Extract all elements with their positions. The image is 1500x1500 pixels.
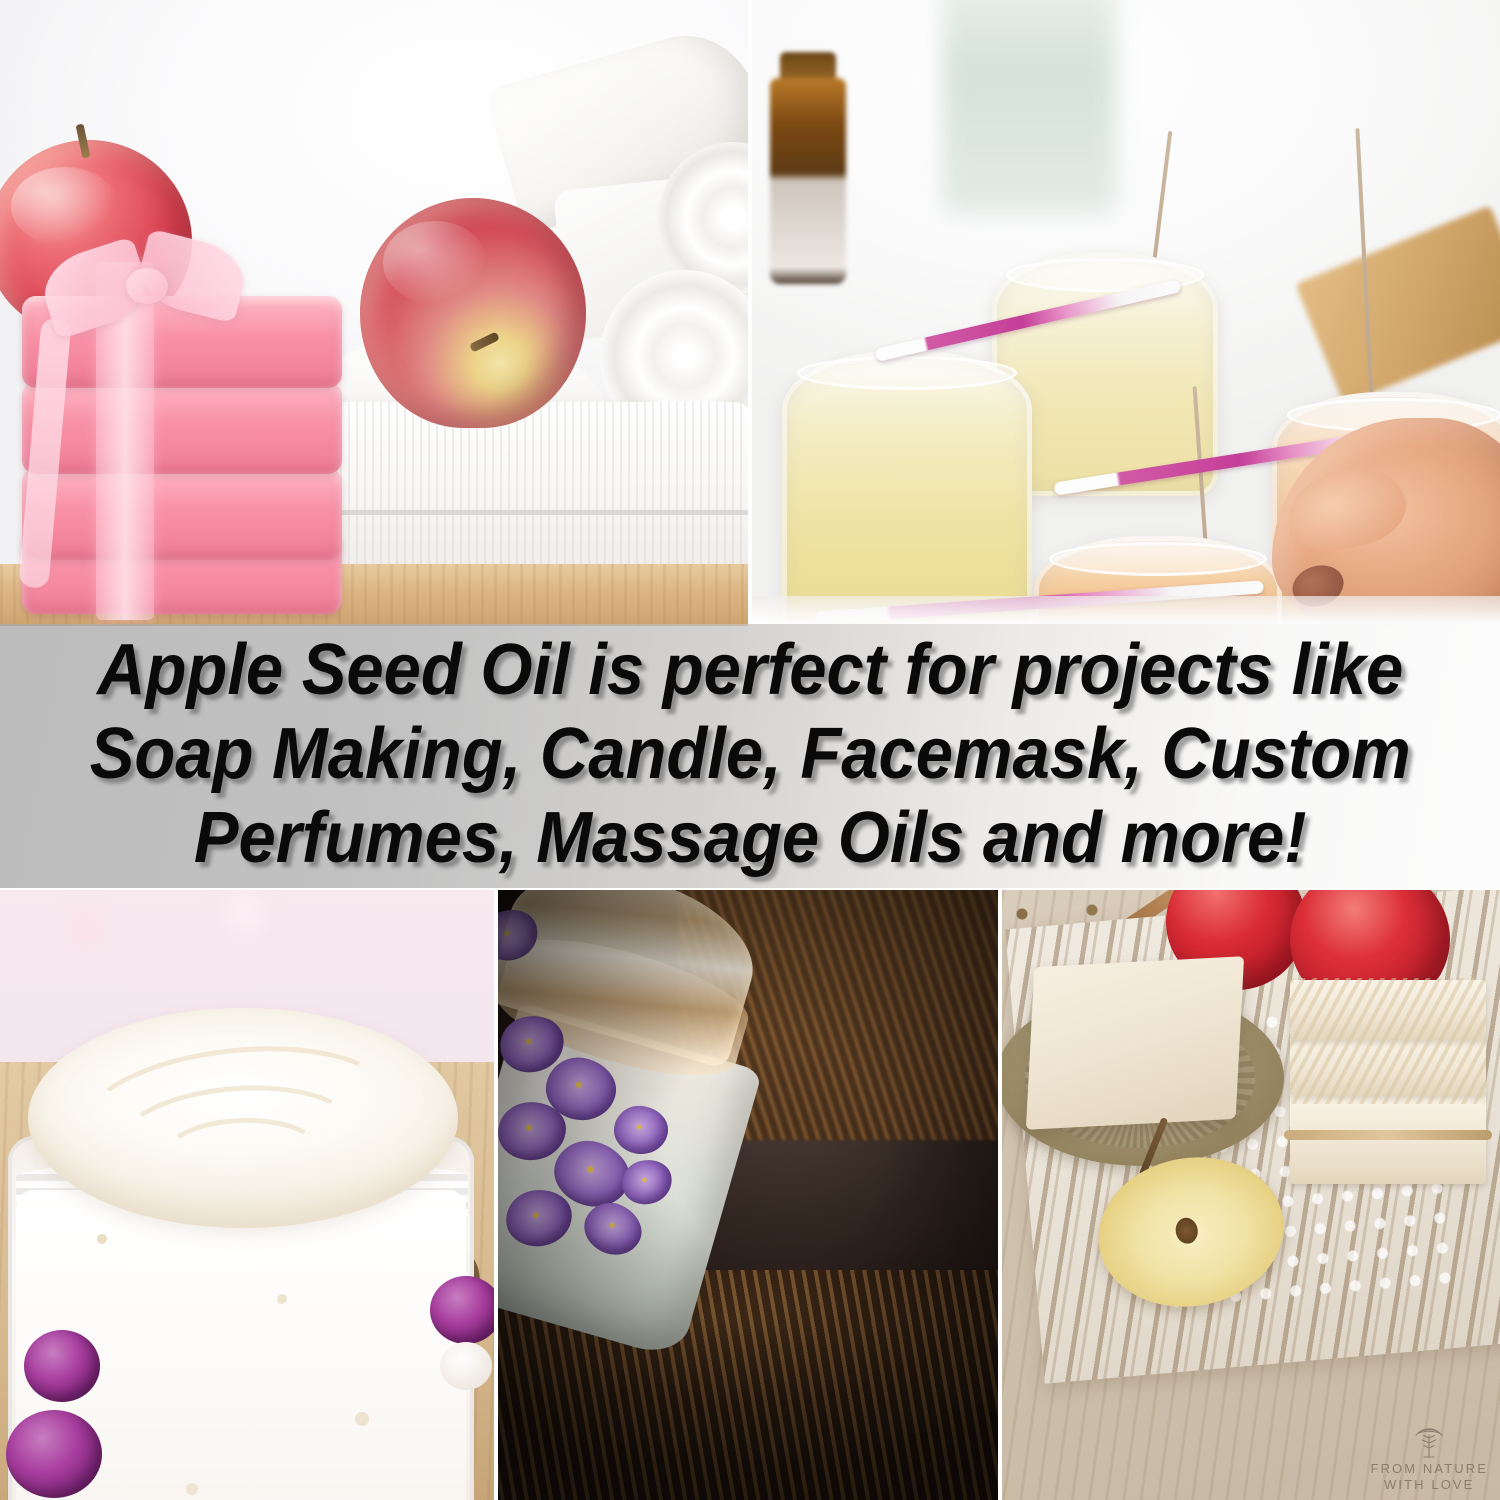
soap-bar-third (22, 468, 342, 560)
caption-line-3: Perfumes, Massage Oils and more! (194, 796, 1307, 880)
twine-band (1284, 1130, 1492, 1140)
dried-flower-background (18, 891, 64, 935)
dried-flower-white (440, 1342, 492, 1390)
jar-rim (797, 356, 1017, 390)
product-collage: FROM NATURE WITH LOVE Apple Seed Oil is … (0, 0, 1500, 1500)
wax-jar-yellow-left (782, 350, 1032, 626)
dried-flower-left (24, 1330, 100, 1402)
brand-line-1: FROM NATURE (1371, 1461, 1488, 1476)
panel-candle-making (752, 0, 1500, 626)
bokeh-light-left (56, 900, 116, 956)
brand-line-2: WITH LOVE (1371, 1477, 1488, 1492)
panel-handmade-soap: FROM NATURE WITH LOVE (1002, 890, 1500, 1500)
dried-flower-front-left (6, 1410, 102, 1498)
panel-body-butter (0, 890, 494, 1500)
panel-candle-with-lilacs (498, 890, 998, 1500)
jar-rim (1049, 542, 1267, 576)
soap-bar-second (22, 382, 342, 474)
caption-banner: Apple Seed Oil is perfect for projects l… (0, 624, 1500, 888)
ribbon-bow (44, 228, 254, 336)
vignette (498, 890, 998, 1500)
essential-oil-bottle (770, 78, 846, 284)
soap-bar-on-plate (1026, 956, 1244, 1130)
table-edge (752, 596, 1500, 626)
panel-soap-and-towels (0, 0, 748, 626)
caption-line-1: Apple Seed Oil is perfect for projects l… (97, 628, 1403, 712)
blurred-background-bottle (942, 0, 1116, 214)
brand-watermark: FROM NATURE WITH LOVE (1371, 1424, 1488, 1492)
soap-textured-tops (1290, 978, 1486, 1104)
caption-line-2: Soap Making, Candle, Facemask, Custom (90, 712, 1411, 796)
dried-flower-right (430, 1276, 494, 1344)
apple-front-right (360, 198, 586, 428)
tree-icon (1413, 1424, 1445, 1458)
